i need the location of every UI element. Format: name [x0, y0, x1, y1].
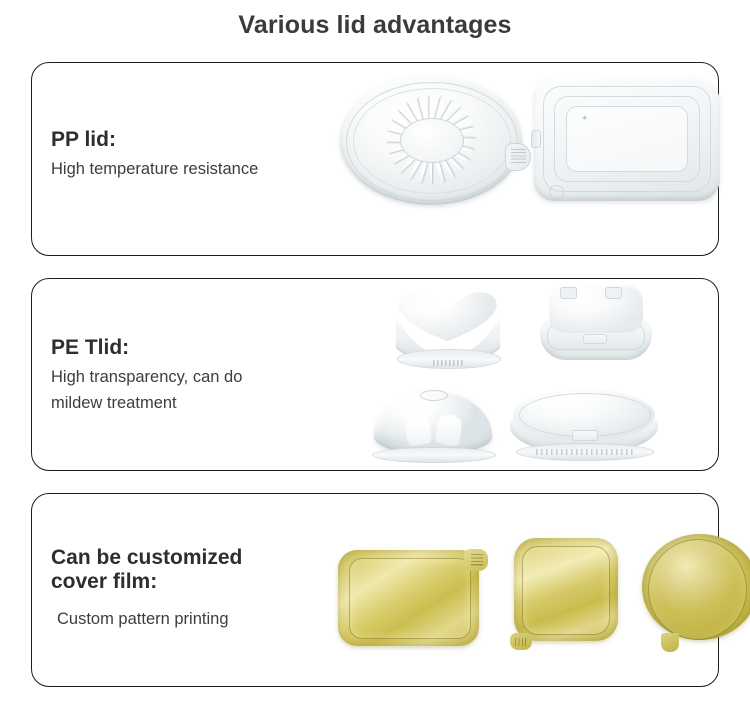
lid-inner-rim: [353, 88, 512, 194]
lid-rib-ring-middle: [554, 96, 699, 183]
foil-pull-tab: [661, 633, 680, 652]
lid-pull-tab: [505, 143, 531, 171]
dome-pe-lid-image: [372, 391, 494, 463]
panel-cover-film-heading: Can be customized cover film:: [51, 546, 321, 594]
panel-cover-film: Can be customized cover film: Custom pat…: [31, 493, 719, 687]
lid-skirt: [390, 317, 506, 363]
lid-body: [534, 77, 720, 201]
lid-rib-ring-outer: [543, 86, 710, 193]
lid-side-notch: [531, 130, 540, 148]
lid-highlight-left: [404, 414, 433, 448]
foil-plate: [514, 538, 618, 641]
panel-pe-lid-heading: PE Tlid:: [51, 335, 321, 360]
panel-cover-film-image-stage: [312, 494, 718, 686]
panel-cover-film-text-block: Can be customized cover film: Custom pat…: [51, 546, 321, 632]
lid-bottom-notch: [549, 185, 564, 198]
foil-plate: [338, 550, 479, 646]
lid-front-dent: [572, 430, 598, 441]
foil-inner-emboss: [648, 539, 747, 640]
lid-center-hub: [400, 118, 464, 163]
lid-straw-hole: [420, 390, 449, 401]
foil-plate: [642, 534, 750, 640]
panel-pe-lid-text-block: PE Tlid: High transparency, can do milde…: [51, 335, 321, 416]
panel-pe-lid: PE Tlid: High transparency, can do milde…: [31, 278, 719, 471]
panel-pp-lid-heading: PP lid:: [51, 127, 321, 152]
lid-heart-dome: [395, 289, 502, 341]
panel-cover-film-description: Custom pattern printing: [51, 598, 321, 632]
panel-pe-lid-description: High transparency, can do mildew treatme…: [51, 364, 321, 416]
lid-top-face: [513, 389, 655, 441]
foil-pull-tab: [510, 633, 532, 650]
panel-pp-lid-description: High temperature resistance: [51, 156, 321, 182]
lid-base-rim: [372, 447, 496, 463]
lid-corner-notch-left: [560, 287, 577, 298]
foil-inner-emboss: [522, 546, 610, 635]
lid-base-rim: [397, 349, 501, 369]
square-pe-lid-image: [540, 285, 652, 363]
panel-pp-lid-image-stage: ✦: [312, 63, 718, 255]
lid-rib-pattern: [355, 88, 508, 192]
lid-corner-notch-right: [605, 287, 622, 298]
lid-top-face: [549, 285, 643, 333]
rectangular-pp-lid-image: ✦: [534, 77, 720, 201]
lid-dome-cap: [374, 391, 491, 454]
lid-body: [340, 75, 522, 205]
lid-rib-ring-inner: [566, 106, 689, 173]
gold-round-cover-film-image: [642, 534, 750, 652]
panel-pp-lid-text-block: PP lid: High temperature resistance: [51, 127, 321, 182]
gold-rectangular-cover-film-image: [338, 544, 488, 648]
panel-pp-lid: PP lid: High temperature resistance: [31, 62, 719, 256]
page-title: Various lid advantages: [0, 10, 750, 40]
lid-skirt: [540, 316, 652, 360]
lid-inner-ring: [519, 393, 651, 437]
lid-highlight-right: [434, 414, 463, 448]
heart-shaped-pe-lid-image: [390, 289, 506, 371]
round-ribbed-pp-lid-image: [340, 75, 522, 205]
panel-pe-lid-image-stage: [312, 279, 718, 470]
lid-skirt: [510, 408, 658, 454]
lid-outer-rim: [346, 82, 517, 201]
foil-pull-tab: [464, 549, 488, 571]
lid-base-rim: [516, 443, 654, 461]
foil-inner-emboss: [349, 558, 471, 639]
gold-square-cover-film-image: [510, 538, 618, 650]
oval-pe-lid-image: [510, 389, 658, 461]
lid-front-dent: [583, 334, 607, 345]
lid-embossed-mark: ✦: [580, 112, 589, 124]
